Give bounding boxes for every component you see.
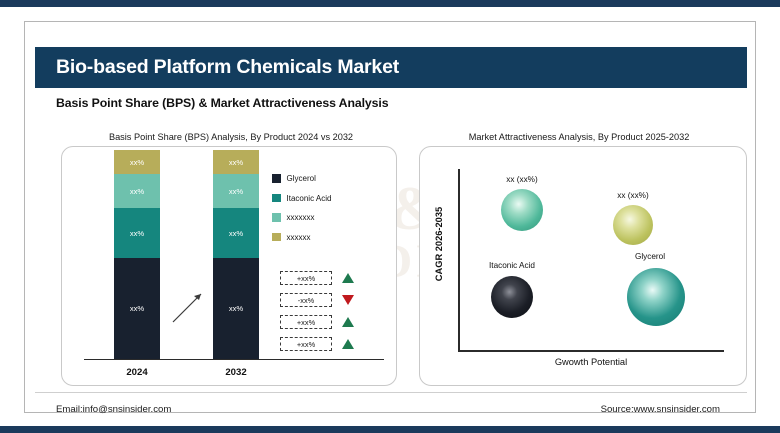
- attractiveness-y-axis: [458, 169, 460, 351]
- attractiveness-chart-title: Market Attractiveness Analysis, By Produ…: [411, 132, 747, 142]
- delta-row: +xx%: [280, 271, 354, 285]
- delta-value: +xx%: [280, 315, 332, 329]
- x-tick-2024: 2024: [102, 367, 172, 378]
- delta-value: +xx%: [280, 337, 332, 351]
- triangle-up-icon: [342, 317, 354, 327]
- bar-segment: xx%: [114, 174, 160, 208]
- delta-row: +xx%: [280, 337, 354, 351]
- triangle-up-icon: [342, 339, 354, 349]
- bps-panel: xx% xx% xx% xx% xx% xx% xx% xx% 20: [61, 146, 397, 386]
- bubble-label-glycerol: Glycerol: [605, 252, 695, 261]
- page-subtitle: Basis Point Share (BPS) & Market Attract…: [56, 96, 388, 110]
- page-title: Bio-based Platform Chemicals Market: [56, 56, 399, 79]
- attractiveness-panel: CAGR 2026-2035 Gwowth Potential xx (xx%)…: [419, 146, 747, 386]
- bps-plot: xx% xx% xx% xx% xx% xx% xx% xx% 20: [62, 147, 398, 387]
- top-accent-strip: [0, 0, 780, 7]
- legend-swatch-icon: [272, 233, 281, 242]
- triangle-up-icon: [342, 273, 354, 283]
- legend-item-glycerol: Glycerol: [272, 174, 392, 183]
- legend-label: Glycerol: [287, 174, 316, 183]
- delta-row: +xx%: [280, 315, 354, 329]
- legend-swatch-icon: [272, 174, 281, 183]
- bar-segment: xx%: [114, 150, 160, 174]
- bubble-point[interactable]: [491, 276, 533, 318]
- legend-swatch-icon: [272, 213, 281, 222]
- legend-label: xxxxxxx: [287, 213, 315, 222]
- legend-item-3: xxxxxxx: [272, 213, 392, 222]
- bar-segment: xx%: [213, 150, 259, 174]
- bar-2032: xx% xx% xx% xx%: [213, 150, 259, 359]
- infographic-page: Bio-based Platform Chemicals Market Basi…: [0, 0, 780, 433]
- delta-value: -xx%: [280, 293, 332, 307]
- title-bar: Bio-based Platform Chemicals Market: [35, 47, 747, 88]
- y-axis-label: CAGR 2026-2035: [434, 184, 444, 304]
- bps-legend: Glycerol Itaconic Acid xxxxxxx xxxxxx: [272, 174, 392, 252]
- bubble-point[interactable]: [613, 205, 653, 245]
- bps-x-axis: [84, 359, 384, 360]
- main-card: Bio-based Platform Chemicals Market Basi…: [24, 21, 756, 413]
- trend-arrow-icon: [170, 289, 206, 325]
- bottom-accent-strip: [0, 426, 780, 433]
- bubble-point[interactable]: [627, 268, 685, 326]
- delta-value: +xx%: [280, 271, 332, 285]
- bar-segment: xx%: [213, 258, 259, 359]
- legend-swatch-icon: [272, 194, 281, 203]
- bar-segment: xx%: [114, 258, 160, 359]
- bubble-label: xx (xx%): [588, 191, 678, 200]
- triangle-down-icon: [342, 295, 354, 305]
- footer-source: Source:www.snsinsider.com: [601, 404, 720, 415]
- footer-divider: [35, 392, 747, 393]
- bar-2024: xx% xx% xx% xx%: [114, 150, 160, 359]
- attractiveness-x-axis: [458, 350, 724, 352]
- bar-segment: xx%: [213, 174, 259, 208]
- legend-item-4: xxxxxx: [272, 233, 392, 242]
- x-tick-2032: 2032: [201, 367, 271, 378]
- bubble-label: xx (xx%): [477, 175, 567, 184]
- attractiveness-plot: CAGR 2026-2035 Gwowth Potential xx (xx%)…: [420, 147, 748, 387]
- legend-label: Itaconic Acid: [287, 194, 332, 203]
- bubble-point[interactable]: [501, 189, 543, 231]
- footer-email: Email:info@snsinsider.com: [56, 404, 171, 415]
- bar-segment: xx%: [114, 208, 160, 258]
- bps-delta-list: +xx% -xx% +xx% +xx%: [280, 271, 354, 359]
- legend-label: xxxxxx: [287, 233, 311, 242]
- x-axis-label: Gwowth Potential: [458, 357, 724, 367]
- delta-row: -xx%: [280, 293, 354, 307]
- bubble-label-itaconic-acid: Itaconic Acid: [467, 261, 557, 270]
- legend-item-itaconic-acid: Itaconic Acid: [272, 194, 392, 203]
- bar-segment: xx%: [213, 208, 259, 258]
- bps-chart-title: Basis Point Share (BPS) Analysis, By Pro…: [71, 132, 391, 142]
